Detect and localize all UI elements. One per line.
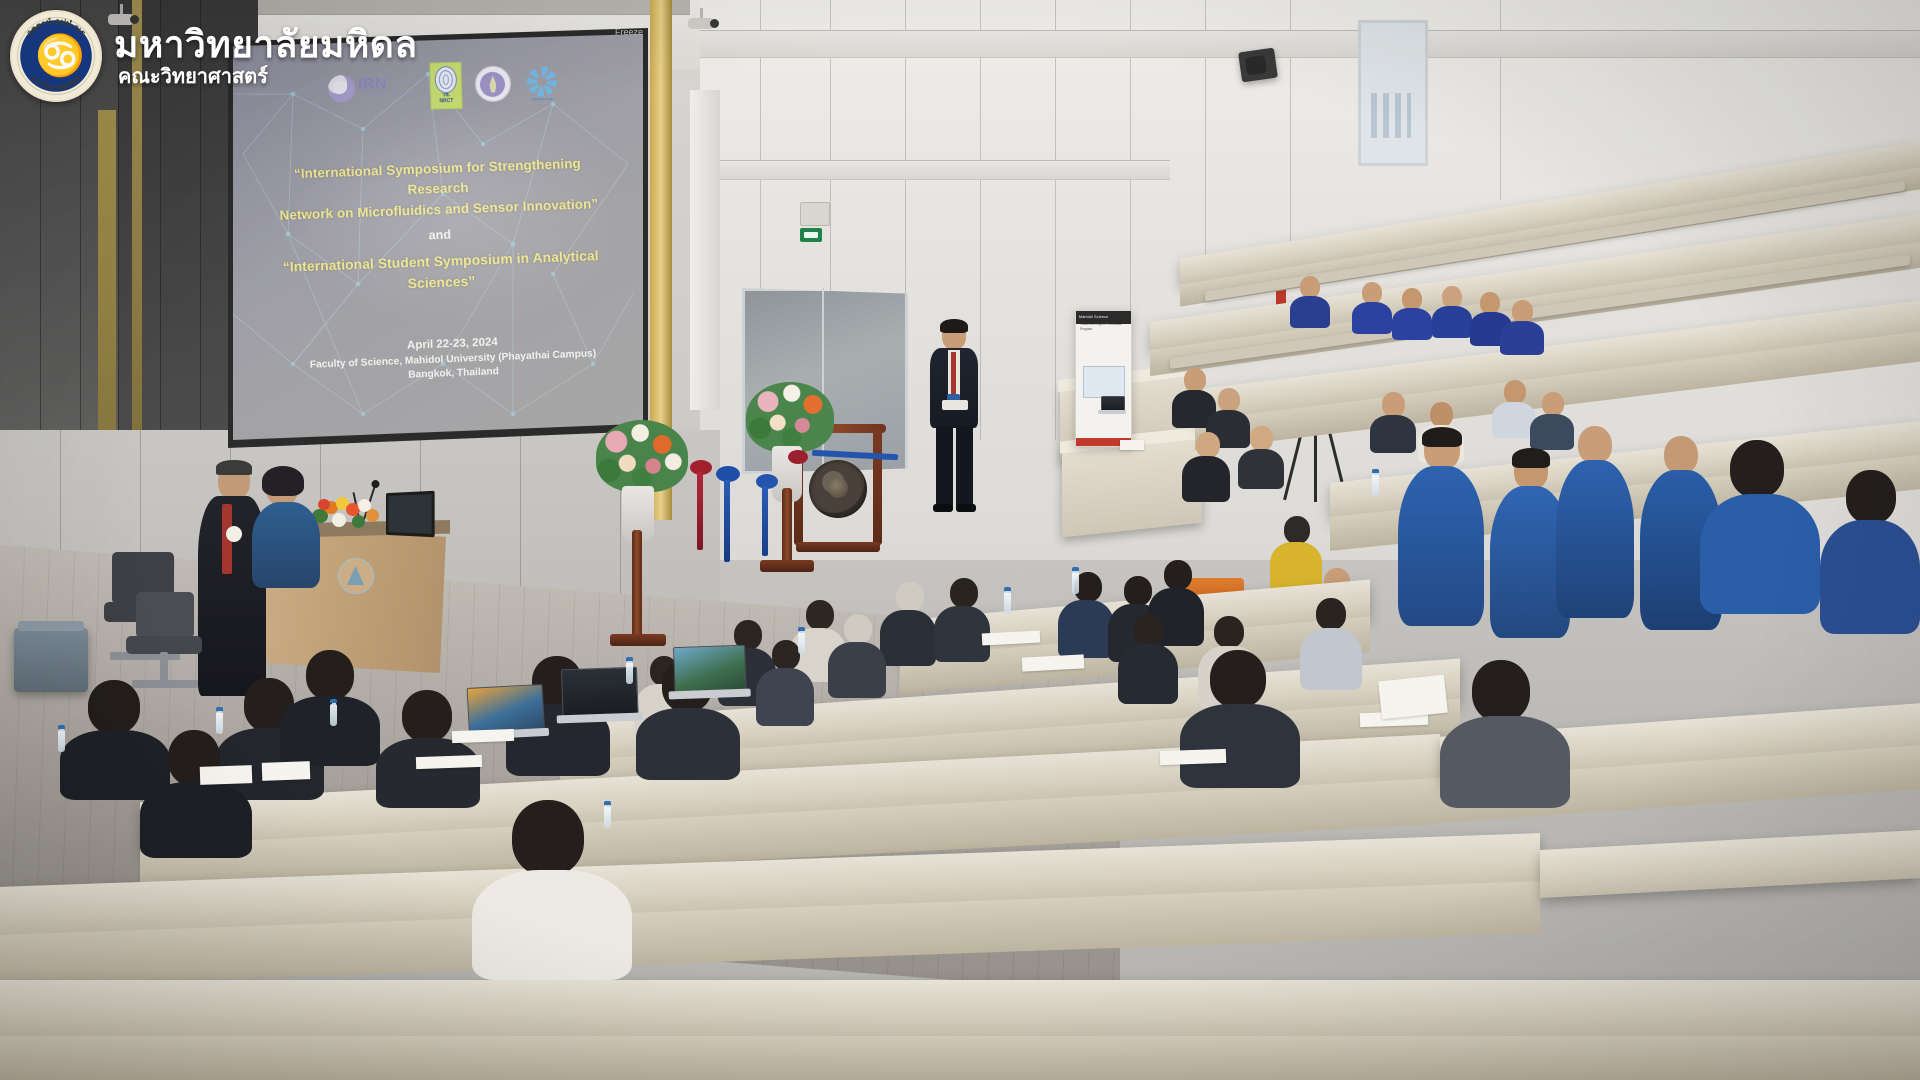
paper-sheet [1378, 675, 1448, 720]
stand-pole [782, 488, 792, 566]
chair-feet [132, 680, 198, 688]
information-kiosk: Mahidol Science หลักสูตร วิทยาศาสตร์ • B… [1075, 310, 1132, 447]
audience-person [934, 578, 990, 658]
person-mc-stage [928, 322, 980, 514]
audience-person [1300, 598, 1362, 686]
flower-stand-left [590, 420, 690, 650]
water-bottle [1372, 474, 1379, 496]
torso [828, 642, 886, 698]
faculty-name-thai: คณะวิทยาศาสตร์ [118, 67, 418, 87]
head [1250, 426, 1273, 451]
head [1578, 426, 1612, 464]
bottle-cap [1372, 469, 1379, 473]
stand-base [610, 634, 666, 646]
bottle-cap [330, 699, 337, 703]
head [1362, 282, 1382, 304]
wall-band-upper [700, 30, 1920, 58]
head [1512, 300, 1533, 323]
head [1480, 292, 1500, 314]
audience-person-foreground [1820, 470, 1920, 630]
kiosk-touchscreen[interactable] [1083, 366, 1125, 398]
waste-bin [14, 628, 88, 692]
audience-person [880, 582, 936, 662]
office-chair-2 [126, 592, 214, 702]
hair [262, 466, 304, 496]
wall-seam [1055, 0, 1056, 440]
torso [1058, 600, 1114, 658]
ribbon-blue-tail-2 [762, 486, 768, 556]
audience-person [1500, 300, 1544, 352]
head [950, 578, 978, 608]
ceiling-speaker [1238, 48, 1278, 83]
ribbon-red-bow-2 [788, 450, 808, 464]
torso [1432, 306, 1472, 338]
water-bottle [1072, 572, 1079, 594]
water-bottle [58, 730, 65, 752]
stand-base [760, 560, 814, 572]
audience-person [1238, 426, 1284, 486]
bottle-cap [58, 725, 65, 729]
bottle-cap [1072, 567, 1079, 571]
head [1472, 660, 1530, 722]
corner-label: Freeze [615, 27, 643, 37]
audience-person [1290, 276, 1330, 324]
bouquet [596, 420, 688, 492]
auditorium-photo: IRN microfluidics & sensor innovation วช… [0, 0, 1920, 1080]
podium-monitor [386, 491, 435, 538]
kiosk-header: Mahidol Science [1076, 311, 1131, 324]
hair [1422, 427, 1462, 447]
white-column [690, 90, 720, 410]
audience-person-standing [1556, 426, 1634, 612]
paper-sheet [200, 765, 253, 785]
head [1284, 516, 1310, 544]
wall-band-lower [700, 160, 1170, 180]
head [512, 800, 584, 876]
mahidol-university-seal: อตฺตานํ อุปมํ กเร มหาวิทยาลัยมหิดล ♋ [10, 10, 102, 102]
head [1542, 392, 1564, 416]
ribbon-blue-tail-1 [724, 480, 730, 562]
lanyard [951, 352, 956, 396]
laptop-3 [667, 645, 751, 704]
audience-person-foreground [1700, 440, 1820, 610]
head [306, 650, 354, 700]
audience-person [828, 614, 886, 694]
branding-text: มหาวิทยาลัยมหิดล คณะวิทยาศาสตร์ [114, 26, 418, 87]
audience-person-foreground [140, 730, 252, 848]
side-display-board [1358, 20, 1428, 166]
head [1846, 470, 1896, 524]
torso [1820, 520, 1920, 634]
shoe-right [956, 504, 976, 512]
head [1664, 436, 1698, 474]
torso [1238, 449, 1284, 489]
laptop-base [669, 689, 751, 700]
paper-sheet [1120, 440, 1144, 450]
head [1402, 288, 1422, 310]
bottle-cap [1004, 587, 1011, 591]
torso [1700, 494, 1820, 614]
audience-person [1352, 282, 1392, 330]
head [1442, 286, 1462, 308]
leg-right [956, 426, 973, 506]
hair [1512, 448, 1550, 468]
person-speaker-2 [252, 470, 320, 580]
tripod-leg-mid [1314, 432, 1317, 502]
torso [472, 870, 632, 980]
head [1316, 598, 1346, 630]
water-bottle [798, 632, 805, 654]
torso [376, 738, 480, 808]
torso [1290, 296, 1330, 328]
hair [216, 460, 252, 475]
wall-seam [980, 0, 981, 440]
bouquet [746, 382, 834, 452]
leg-left [936, 426, 953, 506]
laptop-screen [673, 645, 747, 693]
audience-person-foreground [1440, 660, 1570, 800]
audience-person [1118, 614, 1178, 700]
wall-control-box [800, 202, 830, 226]
hair [940, 319, 968, 333]
laptop-base [1098, 410, 1126, 414]
head [1218, 388, 1240, 412]
head [1730, 440, 1784, 498]
torso [1392, 308, 1432, 340]
head [772, 640, 800, 670]
chair-back [136, 592, 194, 638]
laptop-screen [467, 684, 545, 734]
torso [880, 610, 936, 666]
torso [1556, 460, 1634, 618]
head [402, 690, 452, 742]
head [1134, 614, 1164, 646]
gong-post-right [873, 430, 882, 545]
head [1210, 650, 1266, 708]
water-bottle [626, 662, 633, 684]
head [1164, 560, 1192, 590]
seal-emblem-icon: ♋ [35, 33, 77, 79]
water-bottle [1004, 592, 1011, 614]
head [1214, 616, 1244, 648]
audience-person-standing [1398, 430, 1484, 620]
seating-tier-bottom-face [0, 1036, 1920, 1080]
bottle-cap [798, 627, 805, 631]
torso [1118, 644, 1178, 704]
audience-person [1058, 572, 1114, 654]
laptop-desk-right [1098, 396, 1126, 416]
torso [1398, 466, 1484, 626]
torso [636, 708, 740, 780]
head [1184, 368, 1206, 392]
torso [1500, 321, 1544, 355]
head [1196, 432, 1220, 458]
ribbon-red-tail [697, 472, 703, 550]
head [1504, 380, 1526, 404]
head [896, 582, 924, 612]
held-paper [942, 400, 968, 410]
torso [140, 782, 252, 858]
university-name-thai: มหาวิทยาลัยมหิดล [114, 26, 418, 63]
paper-sheet [262, 761, 311, 781]
torso [1352, 302, 1392, 334]
boutonniere [226, 526, 242, 542]
shoe-left [933, 504, 953, 512]
chair-column [160, 652, 168, 682]
bottle-cap [626, 657, 633, 661]
seating-tier-bottom [0, 980, 1920, 1040]
exit-sign [800, 228, 822, 242]
torso [756, 668, 814, 726]
bottle-cap [604, 801, 611, 805]
audience-person [756, 640, 814, 722]
bottle-cap [216, 707, 223, 711]
laptop-base [557, 712, 643, 723]
head [1382, 392, 1405, 417]
cctv-camera-2 [688, 18, 714, 29]
water-bottle [216, 712, 223, 734]
paper-sheet [1160, 749, 1226, 765]
audience-person [1432, 286, 1472, 334]
gold-wall-strip [98, 110, 116, 460]
torso [1300, 628, 1362, 690]
torso [1182, 456, 1230, 502]
head [1300, 276, 1320, 298]
head [1430, 402, 1453, 427]
water-bottle [330, 704, 337, 726]
torso [1180, 704, 1300, 788]
audience-person [1182, 432, 1230, 498]
torso [252, 502, 320, 588]
audience-person [1392, 288, 1432, 336]
kiosk-header-text: Mahidol Science [1076, 311, 1131, 323]
paper-sheet [416, 755, 482, 769]
stand-pole [632, 530, 642, 640]
university-branding-overlay: อตฺตานํ อุปมํ กเร มหาวิทยาลัยมหิดล ♋ มหา… [0, 0, 430, 106]
paper-sheet [452, 729, 514, 743]
head [844, 614, 872, 644]
water-bottle [604, 806, 611, 828]
torso [1440, 716, 1570, 808]
podium-emblem [338, 558, 374, 594]
